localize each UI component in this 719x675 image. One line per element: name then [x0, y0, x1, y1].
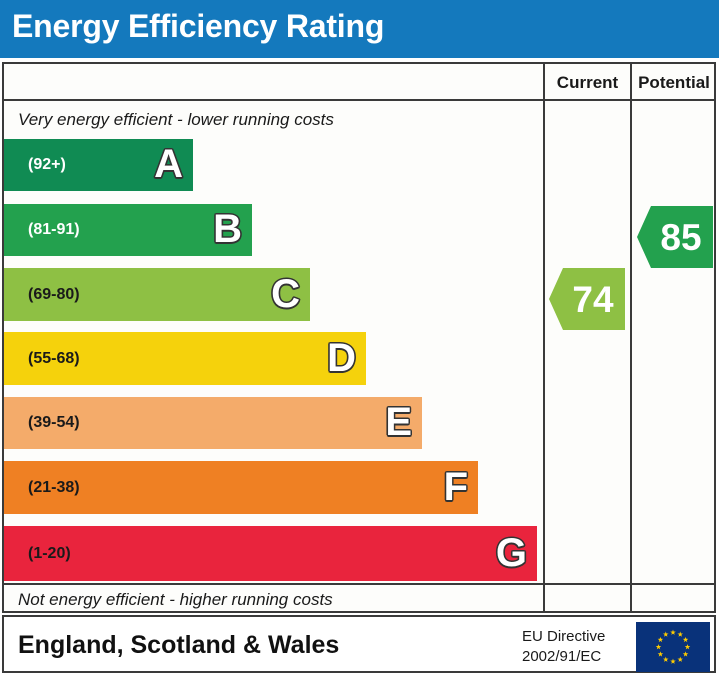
band-letter-f: F: [444, 467, 468, 507]
band-range-f: (21-38): [28, 479, 80, 497]
footer-caption-divider: [2, 583, 716, 585]
band-letter-a: A: [154, 144, 183, 184]
bottom-caption: Not energy efficient - higher running co…: [18, 588, 333, 612]
band-row-a: (92+) A: [4, 139, 193, 191]
eu-directive-line2: 2002/91/EC: [522, 647, 634, 667]
eu-directive-line1: EU Directive: [522, 627, 634, 647]
current-column-header: Current: [545, 70, 630, 96]
band-range-e: (39-54): [28, 414, 80, 432]
current-rating-value: 74: [560, 281, 613, 318]
band-range-g: (1-20): [28, 545, 71, 563]
band-row-b: (81-91) B: [4, 204, 252, 256]
band-letter-e: E: [385, 402, 412, 442]
band-range-a: (92+): [28, 156, 66, 174]
band-letter-b: B: [213, 209, 242, 249]
top-caption: Very energy efficient - lower running co…: [18, 108, 334, 132]
band-range-b: (81-91): [28, 221, 80, 239]
band-range-c: (69-80): [28, 286, 80, 304]
energy-efficiency-certificate: Energy Efficiency Rating Current Potenti…: [0, 0, 719, 675]
page-title: Energy Efficiency Rating: [12, 8, 384, 45]
potential-rating-value: 85: [648, 219, 701, 256]
region-label: England, Scotland & Wales: [18, 631, 339, 660]
band-letter-d: D: [327, 338, 356, 378]
band-row-e: (39-54) E: [4, 397, 422, 449]
eu-directive-label: EU Directive 2002/91/EC: [522, 627, 634, 667]
band-row-g: (1-20) G: [4, 526, 537, 581]
current-rating-marker: 74: [549, 268, 625, 330]
potential-column-divider: [630, 62, 632, 613]
potential-column-header: Potential: [632, 70, 716, 96]
eu-flag-stars: [637, 623, 709, 671]
footer-bar: England, Scotland & Wales EU Directive 2…: [2, 615, 716, 673]
band-row-c: (69-80) C: [4, 268, 310, 321]
potential-rating-marker: 85: [637, 206, 713, 268]
current-column-divider: [543, 62, 545, 613]
eu-flag-icon: [636, 622, 710, 672]
band-row-f: (21-38) F: [4, 461, 478, 514]
title-banner: Energy Efficiency Rating: [0, 0, 719, 58]
band-range-d: (55-68): [28, 350, 80, 368]
band-letter-c: C: [271, 274, 300, 314]
band-row-d: (55-68) D: [4, 332, 366, 385]
band-letter-g: G: [496, 533, 527, 573]
header-divider: [2, 99, 716, 101]
